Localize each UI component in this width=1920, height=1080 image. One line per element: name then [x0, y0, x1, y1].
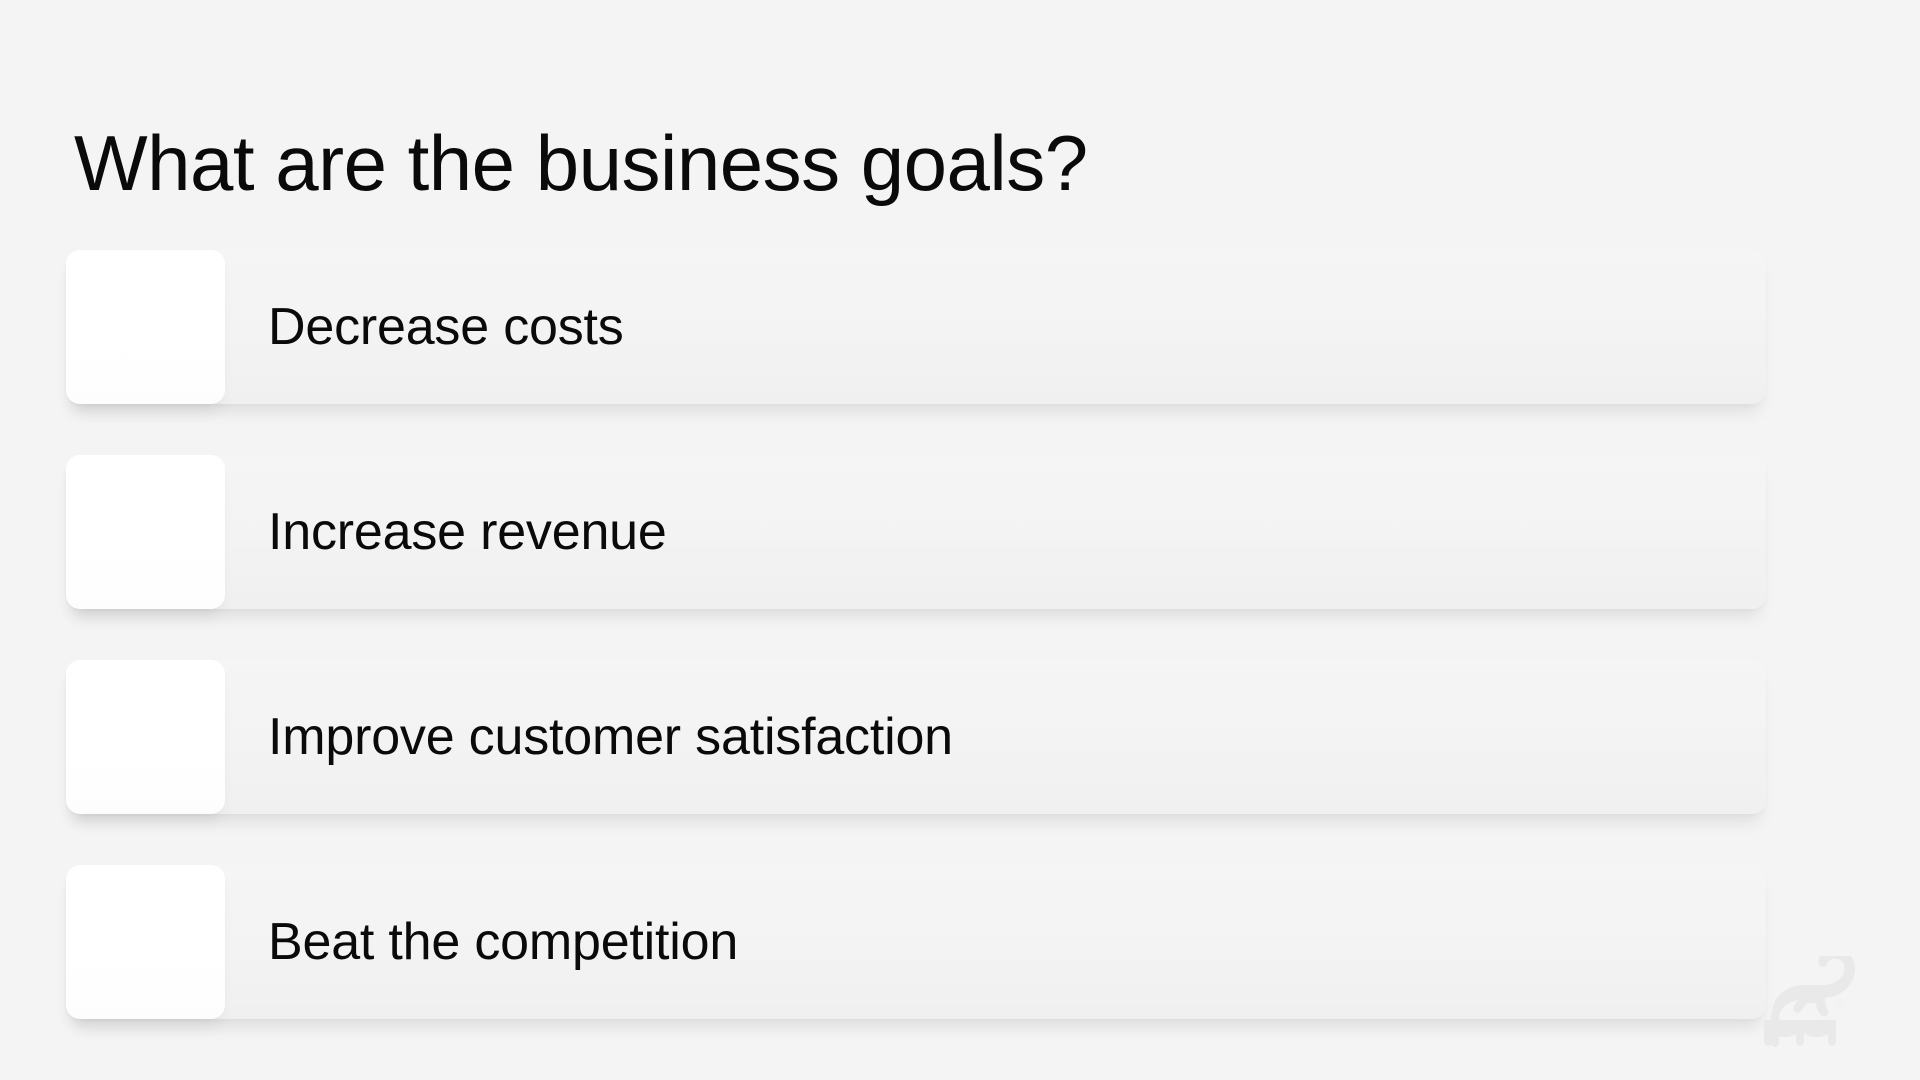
answer-option-label: Improve customer satisfaction: [268, 660, 953, 814]
answer-option-row[interactable]: Improve customer satisfaction: [0, 660, 1920, 814]
answer-option-label: Decrease costs: [268, 250, 624, 404]
answer-option-result-fill: [66, 455, 225, 609]
answer-option-result-fill: [66, 865, 225, 1019]
answer-option-label: Increase revenue: [268, 455, 667, 609]
answer-option-row[interactable]: Beat the competition: [0, 865, 1920, 1019]
answer-option-label: Beat the competition: [268, 865, 738, 1019]
poll-slide: What are the business goals? Decrease co…: [0, 0, 1920, 1080]
answer-option-result-fill: [66, 250, 225, 404]
page-title: What are the business goals?: [74, 124, 1088, 204]
answer-option-row[interactable]: Increase revenue: [0, 455, 1920, 609]
answer-option-row[interactable]: Decrease costs: [0, 250, 1920, 404]
answer-option-result-fill: [66, 660, 225, 814]
answer-options-list: Decrease costs Increase revenue Improve …: [0, 250, 1920, 1070]
